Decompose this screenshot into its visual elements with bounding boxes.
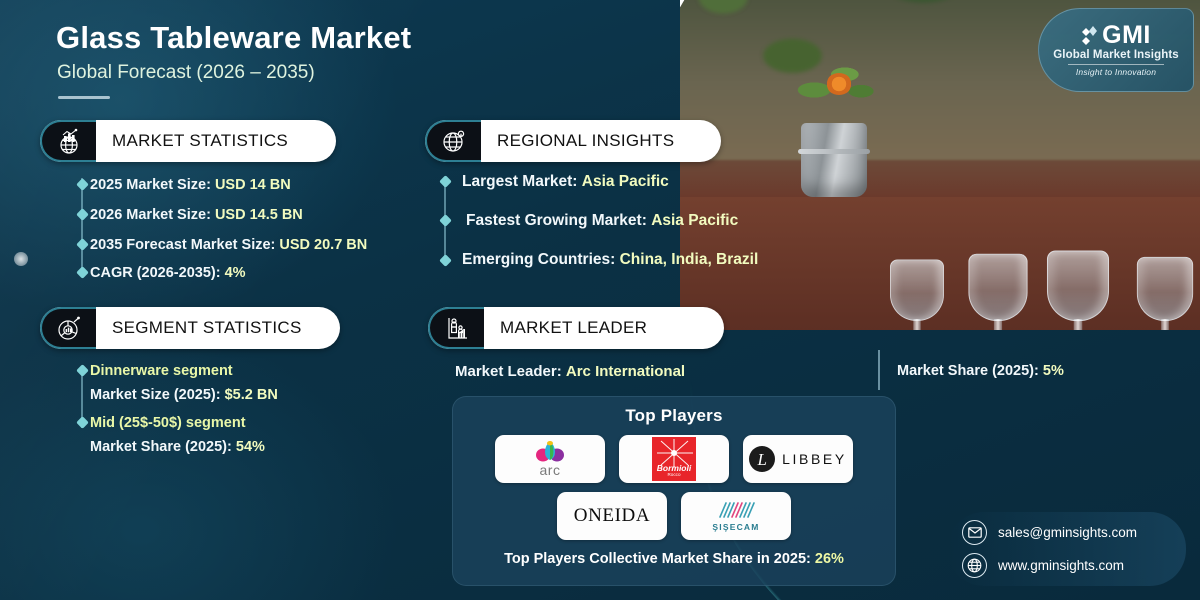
market-share-row: Market Share (2025): 5% bbox=[897, 363, 1064, 379]
market-share-value: 5% bbox=[1043, 363, 1064, 379]
page-title: Glass Tableware Market bbox=[56, 20, 411, 56]
stat-value: USD 20.7 BN bbox=[279, 237, 367, 253]
libbey-logo: L LIBBEY bbox=[749, 446, 847, 472]
stat-label: 2025 Market Size: bbox=[90, 177, 211, 193]
oneida-logo-text: ONEIDA bbox=[574, 505, 650, 527]
gmi-logo[interactable]: GMI Global Market Insights Insight to In… bbox=[1038, 8, 1194, 92]
infographic-canvas: Glass Tableware Market Global Forecast (… bbox=[0, 0, 1200, 600]
sisecam-logo-card[interactable]: ŞIŞECAM bbox=[681, 492, 791, 540]
gmi-name: GMI bbox=[1102, 23, 1151, 48]
contact-website-row[interactable]: www.gminsights.com bbox=[962, 553, 1186, 578]
gmi-divider bbox=[1068, 64, 1164, 65]
gmi-diamond-icon bbox=[1081, 26, 1098, 46]
stat-label: 2026 Market Size: bbox=[90, 207, 211, 223]
regional-insights-header[interactable]: REGIONAL INSIGHTS bbox=[425, 120, 721, 162]
bormioli-rocco-logo: Bormioli Rocco bbox=[652, 437, 696, 481]
stat-value: Asia Pacific bbox=[582, 173, 669, 190]
libbey-logo-text: LIBBEY bbox=[782, 451, 847, 467]
top-players-row-2: ONEIDA bbox=[453, 492, 895, 540]
bormioli-text-line2: Rocco bbox=[667, 472, 680, 478]
stat-row: Fastest Growing Market: Asia Pacific bbox=[466, 212, 738, 230]
market-statistics-header[interactable]: MARKET STATISTICS bbox=[40, 120, 336, 162]
stat-row-title: Mid (25$-50$) segment bbox=[90, 415, 246, 431]
stat-label: Largest Market: bbox=[462, 173, 577, 190]
segment-statistics-header[interactable]: SEGMENT STATISTICS bbox=[40, 307, 340, 349]
market-share-divider bbox=[878, 350, 880, 390]
stat-row: CAGR (2026-2035): 4% bbox=[90, 265, 246, 281]
stat-label: Fastest Growing Market: bbox=[466, 212, 647, 229]
market-leader-name-label: Market Leader: bbox=[455, 363, 562, 380]
stat-value: $5.2 BN bbox=[225, 387, 278, 403]
stat-row: 2035 Forecast Market Size: USD 20.7 BN bbox=[90, 237, 367, 253]
stat-row: 2026 Market Size: USD 14.5 BN bbox=[90, 207, 303, 223]
market-share-label: Market Share (2025): bbox=[897, 363, 1039, 379]
stat-row-title: Dinnerware segment bbox=[90, 363, 233, 379]
contact-website: www.gminsights.com bbox=[998, 558, 1124, 573]
segment-name: Dinnerware segment bbox=[90, 363, 233, 379]
sisecam-logo: ŞIŞECAM bbox=[712, 500, 759, 532]
stat-label: CAGR (2026-2035): bbox=[90, 265, 221, 281]
stat-label: 2035 Forecast Market Size: bbox=[90, 237, 275, 253]
title-underline bbox=[58, 96, 110, 99]
market-leader-label: MARKET LEADER bbox=[484, 318, 647, 338]
arc-logo-card[interactable]: arc bbox=[495, 435, 605, 483]
top-players-share-label: Top Players Collective Market Share in 2… bbox=[504, 551, 811, 567]
stat-label: Emerging Countries: bbox=[462, 251, 615, 268]
stat-row: Largest Market: Asia Pacific bbox=[462, 173, 669, 191]
page-subtitle: Global Forecast (2026 – 2035) bbox=[57, 62, 315, 84]
podium-leader-icon bbox=[428, 307, 484, 349]
stat-value: 54% bbox=[236, 439, 265, 455]
stat-value: USD 14 BN bbox=[215, 177, 291, 193]
stat-value: Asia Pacific bbox=[651, 212, 738, 229]
stat-label: Market Share (2025): bbox=[90, 439, 232, 455]
decorative-dot bbox=[14, 252, 28, 266]
libbey-logo-card[interactable]: L LIBBEY bbox=[743, 435, 853, 483]
envelope-icon bbox=[962, 520, 987, 545]
contact-email: sales@gminsights.com bbox=[998, 525, 1137, 540]
gmi-company-name: Global Market Insights bbox=[1053, 49, 1179, 61]
arc-logo-text: arc bbox=[540, 463, 561, 477]
stat-row: Market Size (2025): $5.2 BN bbox=[90, 387, 278, 403]
background-diagonal-sheen bbox=[0, 0, 430, 600]
stat-row: Emerging Countries: China, India, Brazil bbox=[462, 251, 758, 269]
gmi-tagline: Insight to Innovation bbox=[1076, 67, 1156, 77]
stat-value: 4% bbox=[225, 265, 246, 281]
bormioli-text-line1: Bormioli bbox=[657, 464, 691, 473]
market-statistics-label: MARKET STATISTICS bbox=[96, 131, 288, 151]
arc-logo: arc bbox=[535, 441, 565, 477]
bormioli-rocco-logo-card[interactable]: Bormioli Rocco bbox=[619, 435, 729, 483]
stat-label: Market Size (2025): bbox=[90, 387, 221, 403]
globe-bar-chart-icon bbox=[40, 120, 96, 162]
arc-flower-icon bbox=[535, 441, 565, 463]
stat-value: China, India, Brazil bbox=[620, 251, 759, 268]
contact-block: sales@gminsights.com www.gminsights.com bbox=[948, 512, 1186, 586]
stat-row: 2025 Market Size: USD 14 BN bbox=[90, 177, 291, 193]
segment-name: Mid (25$-50$) segment bbox=[90, 415, 246, 431]
libbey-monogram-icon: L bbox=[749, 446, 775, 472]
sisecam-stripes-icon bbox=[716, 500, 756, 520]
market-statistics-connector bbox=[81, 178, 83, 268]
globe-icon bbox=[962, 553, 987, 578]
top-players-footer: Top Players Collective Market Share in 2… bbox=[453, 551, 895, 567]
segment-statistics-label: SEGMENT STATISTICS bbox=[96, 318, 302, 338]
globe-pin-icon bbox=[425, 120, 481, 162]
sisecam-logo-text: ŞIŞECAM bbox=[712, 522, 759, 532]
regional-insights-label: REGIONAL INSIGHTS bbox=[481, 131, 674, 151]
oneida-logo-card[interactable]: ONEIDA bbox=[557, 492, 667, 540]
market-leader-row: Market Leader: Arc International bbox=[455, 363, 685, 380]
top-players-row-1: arc Bormioli Rocco bbox=[453, 435, 895, 483]
top-players-title: Top Players bbox=[453, 406, 895, 426]
stat-value: USD 14.5 BN bbox=[215, 207, 303, 223]
donut-chart-icon bbox=[40, 307, 96, 349]
top-players-share-value: 26% bbox=[815, 551, 844, 567]
market-leader-name-value: Arc International bbox=[566, 363, 685, 380]
market-leader-header[interactable]: MARKET LEADER bbox=[428, 307, 724, 349]
gmi-logo-top: GMI bbox=[1081, 23, 1151, 48]
top-players-panel: Top Players arc bbox=[452, 396, 896, 586]
stat-row: Market Share (2025): 54% bbox=[90, 439, 265, 455]
contact-email-row[interactable]: sales@gminsights.com bbox=[962, 520, 1186, 545]
